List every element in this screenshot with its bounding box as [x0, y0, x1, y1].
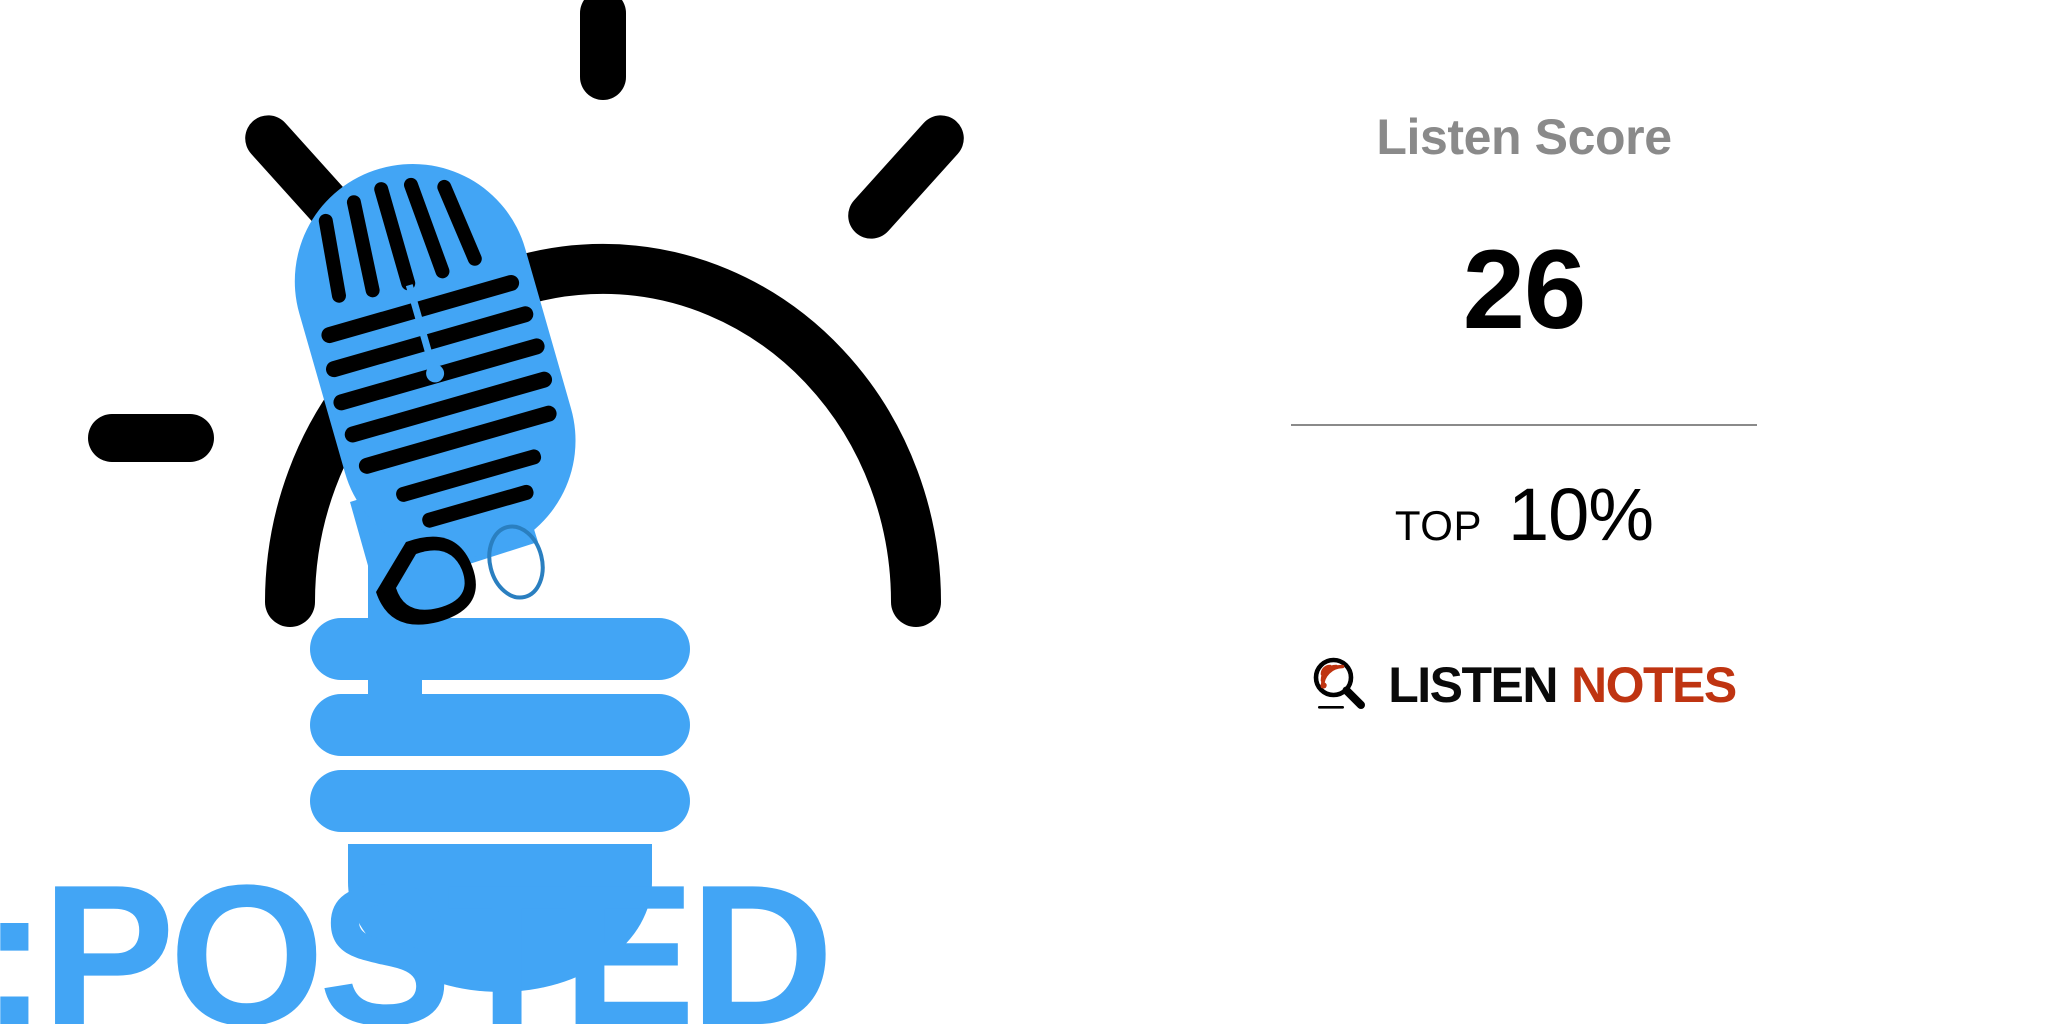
brand-word-listen: LISTEN [1388, 660, 1557, 710]
listen-score-panel: Listen Score 26 TOP 10% [1000, 0, 2048, 1024]
listen-score-badge-screenshot: re:POSTED Listen Score 26 TOP 10% [0, 0, 2048, 1024]
rank-label: TOP [1395, 505, 1482, 547]
podcast-cover-art: re:POSTED [0, 0, 1000, 1024]
brand-word-notes: NOTES [1571, 660, 1736, 710]
listen-notes-brand[interactable]: LISTEN NOTES [1312, 656, 1736, 714]
rank-percentile-value: 10% [1508, 478, 1653, 552]
listen-score-title: Listen Score [1376, 112, 1671, 162]
listen-notes-wordmark: LISTEN NOTES [1388, 660, 1736, 710]
cover-wordmark: re:POSTED [0, 844, 828, 1024]
score-divider [1291, 424, 1757, 426]
listen-notes-magnifier-rss-icon [1312, 656, 1366, 714]
rank-row: TOP 10% [1395, 478, 1653, 552]
lightbulb-microphone-logo: re:POSTED [0, 0, 995, 1024]
listen-score-value: 26 [1463, 234, 1586, 346]
